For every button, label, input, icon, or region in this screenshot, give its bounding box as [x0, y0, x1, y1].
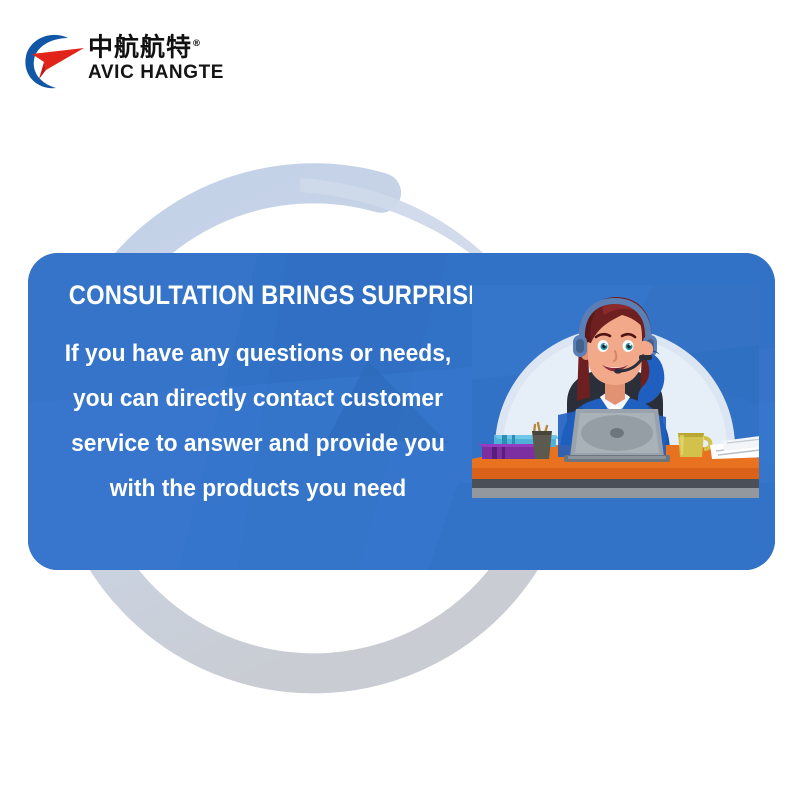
floor: [472, 488, 759, 498]
desk-panel: [472, 479, 759, 488]
brand-name-en: AVIC HANGTE: [88, 62, 228, 84]
card-text-block: CONSULTATION BRINGS SURPRISES If you hav…: [28, 253, 488, 570]
brand-logo: 中航航特® AVIC HANGTE: [22, 28, 222, 98]
desk-front: [472, 468, 759, 479]
brand-name-cn: 中航航特®: [88, 30, 202, 61]
registered-trademark-icon: ®: [192, 39, 202, 49]
avic-logo-mark-icon: [22, 32, 88, 90]
consultation-card: CONSULTATION BRINGS SURPRISES If you hav…: [28, 253, 775, 570]
brand-name-cn-text: 中航航特: [88, 32, 192, 61]
customer-service-illustration: [472, 285, 759, 498]
card-body-text: If you have any questions or needs, you …: [54, 331, 463, 511]
brand-logo-text: 中航航特® AVIC HANGTE: [88, 30, 228, 84]
card-title: CONSULTATION BRINGS SURPRISES: [69, 280, 447, 311]
pencil-cup: [532, 431, 552, 459]
